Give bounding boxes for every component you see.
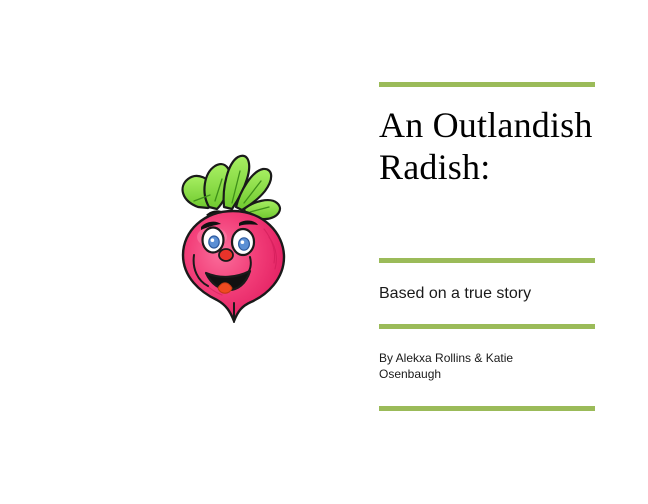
slide-authors: By Alekxa Rollins & Katie Osenbaugh [379,350,555,382]
radish-body-icon [183,211,284,322]
radish-leaves-icon [183,156,280,219]
divider-top [379,82,595,87]
slide-subtitle: Based on a true story [379,284,609,304]
radish-nose-icon [219,249,233,261]
radish-cartoon-illustration [168,145,298,325]
slide-title: An Outlandish Radish: [379,104,609,188]
divider-mid [379,258,595,263]
divider-lower [379,324,595,329]
divider-bottom [379,406,595,411]
title-slide: An Outlandish Radish: Based on a true st… [0,0,648,504]
